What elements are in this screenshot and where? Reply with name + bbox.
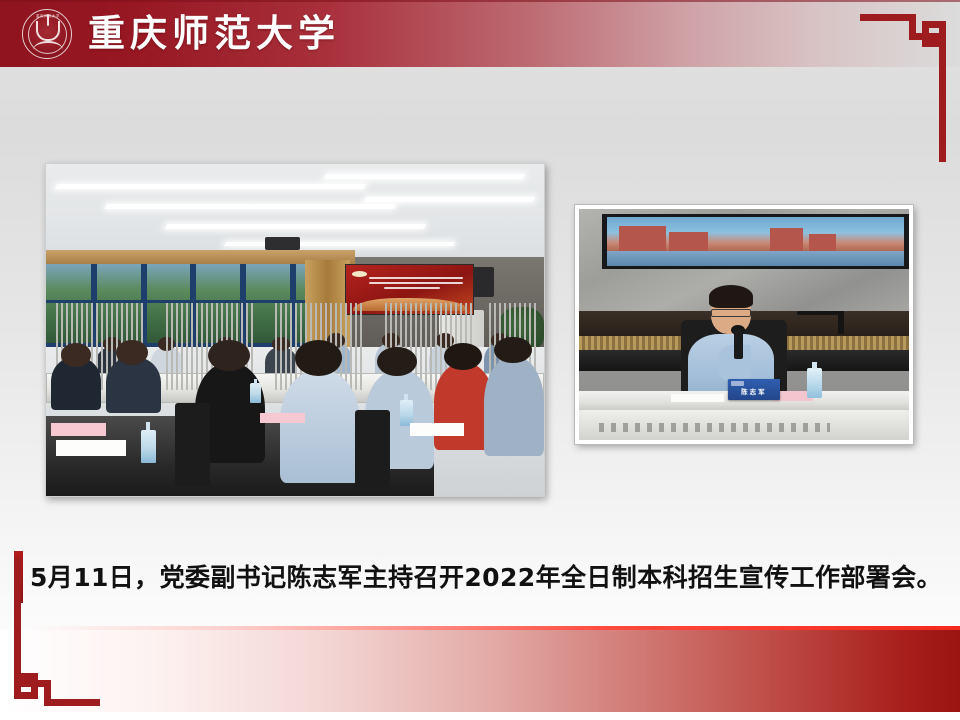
screen-water xyxy=(607,251,905,266)
attendee-foreground xyxy=(280,370,360,483)
photo-meeting-room-wide xyxy=(45,163,545,497)
ceiling-light xyxy=(105,204,396,209)
screen-title-line xyxy=(369,282,463,284)
handheld-microphone xyxy=(734,329,743,359)
footer-bottom-edge xyxy=(0,712,960,720)
footer-gradient-band xyxy=(0,630,960,712)
hui-pattern-corner-bottom-left-icon xyxy=(14,558,100,706)
presentation-slide: 重庆师范大学 重庆师范大学 xyxy=(0,0,960,720)
slide-caption: 5月11日，党委副书记陈志军主持召开2022年全日制本科招生宣传工作部署会。 xyxy=(30,556,935,600)
projection-screen-image xyxy=(607,217,905,266)
attendee-foreground xyxy=(484,357,544,457)
screen-title-line xyxy=(384,287,440,289)
slide-header: 重庆师范大学 重庆师范大学 xyxy=(0,0,960,67)
attendee-head xyxy=(377,347,417,377)
header-top-rule xyxy=(0,0,960,2)
attendee-foreground xyxy=(106,357,161,413)
pink-document xyxy=(260,413,305,423)
ceiling-projector xyxy=(265,237,300,250)
nameplate-logo-icon xyxy=(731,381,745,386)
hui-pattern-corner-top-right-icon xyxy=(860,14,946,162)
ceiling-light xyxy=(364,197,536,202)
nameplate-name: 陈志军 xyxy=(728,386,781,396)
photo-speaker-close-up: 陈志军 xyxy=(575,205,913,444)
ceiling-light xyxy=(55,184,366,189)
notebook xyxy=(410,423,465,436)
pink-document xyxy=(51,423,106,436)
screen-title-line xyxy=(369,277,463,279)
water-bottle xyxy=(250,383,261,403)
emblem-flame-mark xyxy=(36,21,60,41)
ceiling-light xyxy=(324,174,526,179)
attendee-head xyxy=(61,343,91,366)
speaker-hair xyxy=(709,285,753,308)
ceiling-light xyxy=(164,224,425,229)
attendee-head xyxy=(494,337,531,364)
university-emblem-icon: 重庆师范大学 xyxy=(22,9,72,59)
attendee-head xyxy=(116,340,148,365)
microphone-boom-post xyxy=(838,311,844,334)
desk-front-grill xyxy=(599,423,830,432)
microphone-boom xyxy=(797,311,843,316)
water-bottle xyxy=(807,368,822,398)
ceiling-light xyxy=(224,242,455,246)
chair xyxy=(175,403,210,486)
water-bottle xyxy=(141,430,156,463)
attendee-head xyxy=(444,343,481,370)
desk-papers xyxy=(671,394,724,402)
speaker-nameplate: 陈志军 xyxy=(728,379,781,400)
screen-logo xyxy=(352,271,367,277)
eyeglasses xyxy=(711,309,751,316)
chair xyxy=(355,410,390,490)
projection-screen-frame xyxy=(602,214,909,269)
university-name-title: 重庆师范大学 xyxy=(88,5,340,62)
notebook xyxy=(56,440,126,457)
